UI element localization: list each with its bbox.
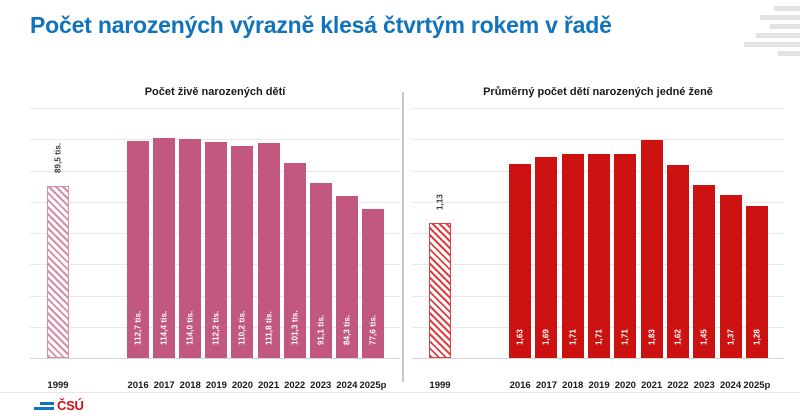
- bar-value-label: 1,62: [673, 329, 682, 345]
- bar-column[interactable]: 110,2 tis.: [231, 146, 253, 358]
- bar-value-label: 89,5 tis.: [54, 143, 63, 173]
- x-axis-tick-label: 2021: [258, 380, 279, 391]
- decorative-bar-stack: [740, 6, 800, 68]
- x-axis-live-births: 1999201620172018201920202021202220232024…: [30, 380, 400, 396]
- bar-column[interactable]: 1,83: [641, 140, 663, 358]
- bar[interactable]: 1,71: [614, 154, 636, 358]
- bar-column[interactable]: 91,1 tis.: [310, 183, 332, 358]
- bar-value-label: 1,83: [647, 329, 656, 345]
- bar-value-label: 112,2 tis.: [212, 311, 221, 345]
- bar[interactable]: 84,3 tis.: [336, 196, 358, 358]
- x-axis-tick-label: 2016: [510, 380, 531, 391]
- x-axis-tick-label: 2016: [127, 380, 148, 391]
- bar-column[interactable]: 84,3 tis.: [336, 196, 358, 358]
- bar-value-label: 1,69: [542, 329, 551, 345]
- bar-value-label: 1,13: [436, 194, 445, 210]
- bar-column[interactable]: 1,63: [509, 164, 531, 358]
- x-axis-tick-label: 2025p: [359, 380, 386, 391]
- x-axis-tick-label: 2018: [562, 380, 583, 391]
- bar-column[interactable]: 1,69: [535, 157, 557, 358]
- x-axis-tick-label: 2022: [284, 380, 305, 391]
- bar[interactable]: 101,3 tis.: [284, 163, 306, 358]
- bar[interactable]: 77,6 tis.: [362, 209, 384, 358]
- bar[interactable]: 1,45: [693, 185, 715, 358]
- bar-value-label: 1,45: [700, 329, 709, 345]
- bar-value-label: 1,71: [595, 329, 604, 345]
- x-axis-tick-label: 2020: [232, 380, 253, 391]
- x-axis-tick-label: 2024: [720, 380, 741, 391]
- bar-column[interactable]: 114,0 tis.: [179, 139, 201, 358]
- axis-baseline-live-births: [30, 358, 400, 359]
- bar[interactable]: 112,2 tis.: [205, 142, 227, 358]
- bars-live-births: 89,5 tis.112,7 tis.114,4 tis.114,0 tis.1…: [30, 108, 400, 358]
- bars-fertility-rate: 1,131,631,691,711,711,711,831,621,451,37…: [412, 108, 784, 358]
- bar-column[interactable]: 1,13: [429, 223, 451, 358]
- bar-value-label: 1,28: [752, 329, 761, 345]
- logo-bars-icon: [34, 402, 54, 410]
- chart-title-fertility-rate: Průměrný počet dětí narozených jedné žen…: [412, 86, 784, 98]
- axis-baseline-fertility-rate: [412, 358, 784, 359]
- bar-value-label: 110,2 tis.: [238, 311, 247, 345]
- x-axis-tick-label: 2023: [694, 380, 715, 391]
- bar-column[interactable]: 1,45: [693, 185, 715, 358]
- x-axis-tick-label: 2020: [615, 380, 636, 391]
- bar-column[interactable]: 77,6 tis.: [362, 209, 384, 358]
- bar[interactable]: 1,71: [588, 154, 610, 358]
- chart-live-births: Počet živě narozených dětí 89,5 tis.112,…: [30, 86, 400, 386]
- bar-value-label: 112,7 tis.: [134, 311, 143, 345]
- bar[interactable]: 112,7 tis.: [127, 141, 149, 358]
- bar[interactable]: 114,0 tis.: [179, 139, 201, 358]
- bar-column[interactable]: 1,62: [667, 165, 689, 358]
- x-axis-tick-label: 1999: [47, 380, 68, 391]
- panel-divider: [402, 92, 404, 382]
- bar-value-label: 114,4 tis.: [160, 311, 169, 345]
- plot-area-live-births: 89,5 tis.112,7 tis.114,4 tis.114,0 tis.1…: [30, 108, 400, 358]
- x-axis-tick-label: 2021: [641, 380, 662, 391]
- bar-value-label: 91,1 tis.: [316, 315, 325, 345]
- x-axis-tick-label: 2022: [667, 380, 688, 391]
- x-axis-tick-label: 2017: [154, 380, 175, 391]
- bar[interactable]: 1,28: [746, 206, 768, 358]
- bar-column[interactable]: 1,37: [720, 195, 742, 358]
- bar[interactable]: 111,8 tis.: [258, 143, 280, 358]
- x-axis-tick-label: 2018: [180, 380, 201, 391]
- chart-title-live-births: Počet živě narozených dětí: [30, 86, 400, 98]
- bar-column[interactable]: 114,4 tis.: [153, 138, 175, 358]
- bar[interactable]: 1,83: [641, 140, 663, 358]
- chart-fertility-rate: Průměrný počet dětí narozených jedné žen…: [412, 86, 784, 386]
- x-axis-tick-label: 2024: [336, 380, 357, 391]
- bar-value-label: 1,71: [568, 329, 577, 345]
- x-axis-tick-label: 2025p: [743, 380, 770, 391]
- bar[interactable]: 1,63: [509, 164, 531, 358]
- bar-value-label: 101,3 tis.: [290, 310, 299, 345]
- charts-container: Počet živě narozených dětí 89,5 tis.112,…: [0, 86, 800, 386]
- page-title: Počet narozených výrazně klesá čtvrtým r…: [30, 12, 612, 39]
- bar-column[interactable]: 112,2 tis.: [205, 142, 227, 358]
- x-axis-tick-label: 2019: [588, 380, 609, 391]
- logo-wordmark: ČSÚ: [57, 398, 84, 413]
- bar-value-label: 84,3 tis.: [342, 315, 351, 345]
- bar-value-label: 77,6 tis.: [368, 315, 377, 345]
- bar[interactable]: 1,71: [562, 154, 584, 358]
- x-axis-tick-label: 2017: [536, 380, 557, 391]
- x-axis-tick-label: 2023: [310, 380, 331, 391]
- bar[interactable]: 1,69: [535, 157, 557, 358]
- bar[interactable]: 110,2 tis.: [231, 146, 253, 358]
- bar-value-label: 1,71: [621, 329, 630, 345]
- bar[interactable]: 1,37: [720, 195, 742, 358]
- bar-column[interactable]: 1,71: [562, 154, 584, 358]
- bar[interactable]: 114,4 tis.: [153, 138, 175, 358]
- bar[interactable]: 91,1 tis.: [310, 183, 332, 358]
- x-axis-tick-label: 2019: [206, 380, 227, 391]
- bar-value-label: 114,0 tis.: [186, 311, 195, 345]
- bar-column[interactable]: 89,5 tis.: [47, 186, 69, 358]
- x-axis-fertility-rate: 1999201620172018201920202021202220232024…: [412, 380, 784, 396]
- bar-value-label: 111,8 tis.: [264, 311, 273, 345]
- plot-area-fertility-rate: 1,131,631,691,711,711,711,831,621,451,37…: [412, 108, 784, 358]
- bar-column[interactable]: 1,71: [614, 154, 636, 358]
- bar-column[interactable]: 112,7 tis.: [127, 141, 149, 358]
- bar[interactable]: [429, 223, 451, 358]
- bar-column[interactable]: 1,28: [746, 206, 768, 358]
- bar[interactable]: [47, 186, 69, 358]
- bar-column[interactable]: 101,3 tis.: [284, 163, 306, 358]
- footer-divider: [0, 392, 800, 393]
- x-axis-tick-label: 1999: [429, 380, 450, 391]
- bar[interactable]: 1,62: [667, 165, 689, 358]
- csu-logo: ČSÚ: [34, 398, 84, 413]
- bar-column[interactable]: 111,8 tis.: [258, 143, 280, 358]
- bar-value-label: 1,63: [516, 329, 525, 345]
- bar-column[interactable]: 1,71: [588, 154, 610, 358]
- bar-value-label: 1,37: [726, 329, 735, 345]
